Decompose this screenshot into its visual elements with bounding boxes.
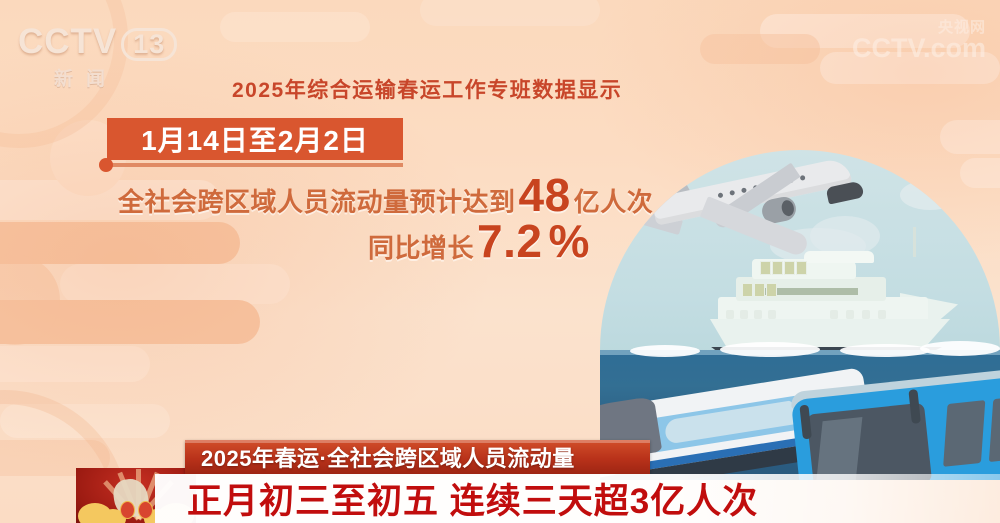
lower-third-topic-text: 2025年春运·全社会跨区域人员流动量 <box>201 441 575 473</box>
lower-third-topic-banner: 2025年春运·全社会跨区域人员流动量 <box>185 440 650 474</box>
stat-prefix: 全社会跨区域人员流动量预计达到 <box>118 182 516 219</box>
kicker-text: 2025年综合运输春运工作专班数据显示 <box>232 74 622 104</box>
stat-prefix: 同比增长 <box>368 228 474 265</box>
stat-suffix: % <box>548 218 589 264</box>
transport-illustration <box>600 150 1000 480</box>
date-underline <box>107 163 403 167</box>
stat-row-total-trips: 全社会跨区域人员流动量预计达到 48 亿人次 <box>118 172 653 219</box>
cctv-logo-subtitle: 新闻 <box>54 64 188 91</box>
date-range-text: 1月14日至2月2日 <box>141 119 369 159</box>
cctv-com-watermark: 央视网 CCTV.com <box>852 16 986 64</box>
date-range-banner: 1月14日至2月2日 <box>107 118 403 160</box>
stat-value: 48 <box>519 172 571 218</box>
date-marker-dot <box>99 158 113 172</box>
cctv-logo-number: 13 <box>121 28 177 61</box>
lower-third-headline-text: 正月初三至初五 连续三天超3亿人次 <box>187 473 758 523</box>
illustration-arch <box>600 150 1000 480</box>
cctv-logo: CCTV13 新闻 <box>18 24 188 86</box>
news-graphic-frame: CCTV13 新闻 央视网 CCTV.com 2025年综合运输春运工作专班数据… <box>0 0 1000 523</box>
stat-value: 7.2 <box>477 218 542 264</box>
cctv-logo-text: CCTV <box>18 22 117 61</box>
watermark-en-text: CCTV.com <box>852 33 986 64</box>
stat-suffix: 亿人次 <box>574 182 654 219</box>
stat-row-yoy-growth: 同比增长 7.2 % <box>368 218 593 265</box>
lower-third-headline-strip: 正月初三至初五 连续三天超3亿人次 <box>155 474 1000 523</box>
